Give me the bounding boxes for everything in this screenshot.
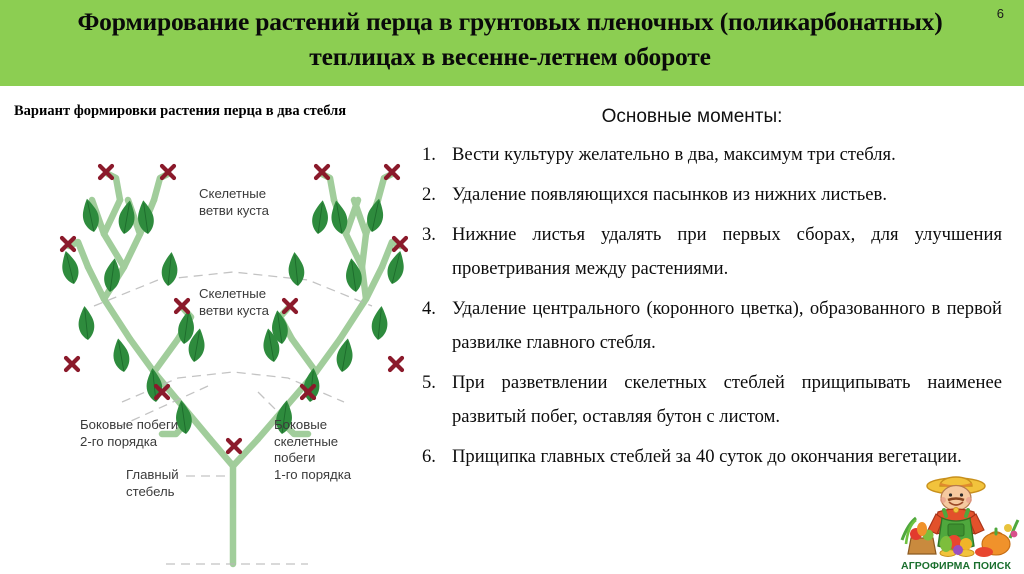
list-item: 5. При разветвлении скелетных стеблей пр…: [418, 366, 1012, 434]
list-item-text: Удаление появляющихся пасынков из нижних…: [452, 178, 1012, 212]
diagram-label-skeletal-branches-top: Скелетные ветви куста: [199, 186, 269, 219]
list-item-number: 3.: [418, 218, 452, 252]
list-item: 4. Удаление центрального (коронного цвет…: [418, 292, 1012, 360]
diagram-label-lateral-shoots-2nd-order: Боковые побеги 2-го порядка: [80, 417, 178, 450]
diagram-label-skeletal-branches-mid: Скелетные ветви куста: [199, 286, 269, 319]
list-item-number: 4.: [418, 292, 452, 326]
list-item-number: 1.: [418, 138, 452, 172]
header-band: Формирование растений перца в грунтовых …: [0, 0, 1024, 86]
key-points-list: 1. Вести культуру желательно в два, макс…: [418, 138, 1012, 480]
farmer-with-vegetables-icon: [892, 466, 1020, 558]
list-item: 3. Нижние листья удалять при первых сбор…: [418, 218, 1012, 286]
left-column: Вариант формировки растения перца в два …: [0, 86, 412, 574]
logo-caption: АГРОФИРМА ПОИСК: [892, 560, 1020, 572]
slide-page-number: 6: [997, 6, 1004, 21]
list-item-number: 5.: [418, 366, 452, 400]
company-logo: АГРОФИРМА ПОИСК: [892, 466, 1020, 572]
list-item: 2. Удаление появляющихся пасынков из ниж…: [418, 178, 1012, 212]
list-item-text: При разветвлении скелетных стеблей прищи…: [452, 366, 1012, 434]
left-subtitle: Вариант формировки растения перца в два …: [14, 103, 346, 120]
key-points-heading: Основные моменты:: [412, 106, 972, 128]
list-item-text: Вести культуру желательно в два, максиму…: [452, 138, 1012, 172]
diagram-label-main-stem: Главный стебель: [126, 467, 179, 500]
page-title: Формирование растений перца в грунтовых …: [60, 4, 960, 74]
list-item-text: Удаление центрального (коронного цветка)…: [452, 292, 1012, 360]
diagram-label-lateral-skeletal-shoots-1st-order: Боковые скелетные побеги 1-го порядка: [274, 417, 351, 483]
diagram-container: Скелетные ветви куста Скелетные ветви ку…: [58, 134, 408, 569]
list-item: 1. Вести культуру желательно в два, макс…: [418, 138, 1012, 172]
list-item-number: 2.: [418, 178, 452, 212]
slide-root: Формирование растений перца в грунтовых …: [0, 0, 1024, 574]
list-item-text: Нижние листья удалять при первых сборах,…: [452, 218, 1012, 286]
stem-network: [69, 174, 401, 564]
list-item-number: 6.: [418, 440, 452, 474]
